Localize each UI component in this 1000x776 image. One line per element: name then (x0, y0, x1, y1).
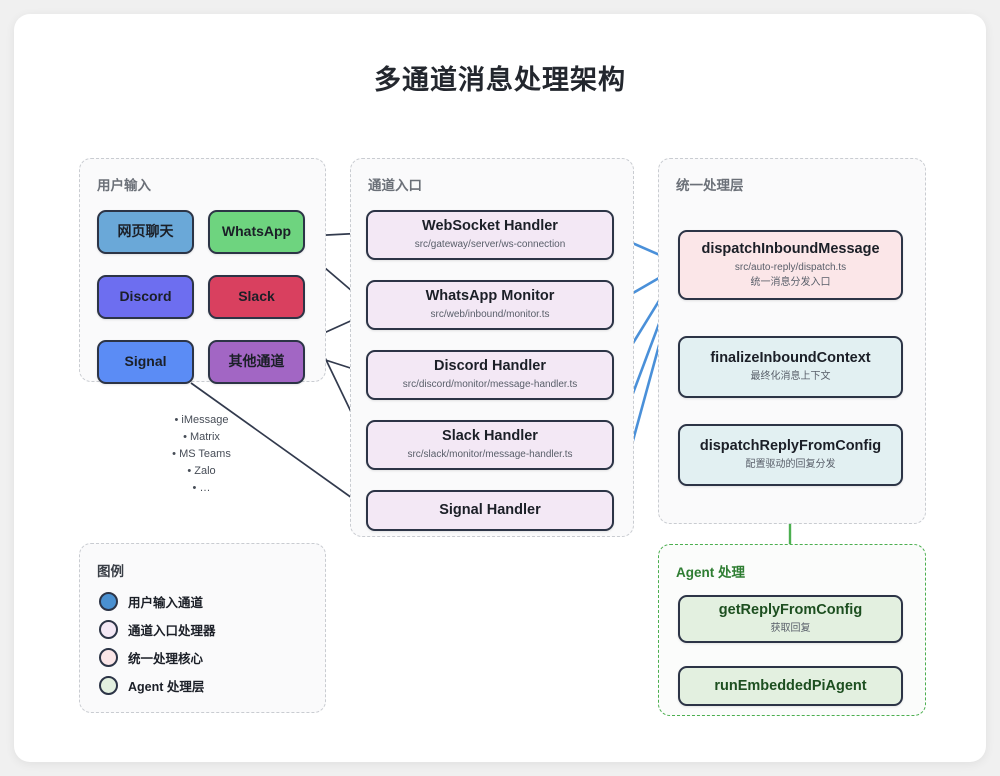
handler-websocket-title: WebSocket Handler (422, 217, 558, 235)
core-finalize-inbound-context[interactable]: finalizeInboundContext 最终化消息上下文 (678, 336, 903, 398)
handler-whatsapp-monitor-path: src/web/inbound/monitor.ts (431, 308, 550, 323)
diagram-card: 多通道消息处理架构 (14, 14, 986, 762)
channel-whatsapp[interactable]: WhatsApp (208, 210, 305, 254)
panel-agent-label: Agent 处理 (676, 561, 745, 581)
legend-item-entry-handler: 通道入口处理器 (99, 620, 216, 639)
core-dispatch-reply-from-config[interactable]: dispatchReplyFromConfig 配置驱动的回复分发 (678, 424, 903, 486)
handler-discord-path: src/discord/monitor/message-handler.ts (403, 378, 578, 393)
channel-slack[interactable]: Slack (208, 275, 305, 319)
agent-get-reply-title: getReplyFromConfig (719, 601, 862, 619)
legend-swatch-circle-icon (99, 592, 118, 611)
core-dispatch-reply-desc: 配置驱动的回复分发 (746, 458, 836, 473)
legend-item-user-channel: 用户输入通道 (99, 592, 203, 611)
channel-slack-label: Slack (238, 288, 275, 306)
handler-slack-path: src/slack/monitor/message-handler.ts (407, 448, 572, 463)
core-finalize-desc: 最终化消息上下文 (751, 370, 831, 385)
legend-item-label: Agent 处理层 (128, 676, 204, 695)
channel-web-chat-label: 网页聊天 (118, 223, 174, 241)
agent-run-embedded-pi-agent[interactable]: runEmbeddedPiAgent (678, 666, 903, 706)
channel-signal-label: Signal (124, 353, 166, 371)
channel-discord-label: Discord (119, 288, 171, 306)
handler-discord[interactable]: Discord Handler src/discord/monitor/mess… (366, 350, 614, 400)
handler-discord-title: Discord Handler (434, 357, 546, 375)
core-dispatch-inbound-message[interactable]: dispatchInboundMessage src/auto-reply/di… (678, 230, 903, 300)
legend-item-unified-core: 统一处理核心 (99, 648, 203, 667)
handler-websocket[interactable]: WebSocket Handler src/gateway/server/ws-… (366, 210, 614, 260)
legend-item-label: 通道入口处理器 (128, 620, 216, 639)
legend-swatch-circle-icon (99, 676, 118, 695)
legend-title: 图例 (97, 560, 124, 580)
legend-item-label: 统一处理核心 (128, 648, 203, 667)
handler-slack-title: Slack Handler (442, 427, 538, 445)
channel-whatsapp-label: WhatsApp (222, 223, 291, 241)
handler-whatsapp-monitor[interactable]: WhatsApp Monitor src/web/inbound/monitor… (366, 280, 614, 330)
legend-item-label: 用户输入通道 (128, 592, 203, 611)
agent-get-reply-from-config[interactable]: getReplyFromConfig 获取回复 (678, 595, 903, 643)
core-dispatch-reply-title: dispatchReplyFromConfig (700, 437, 881, 455)
core-dispatch-title: dispatchInboundMessage (701, 240, 879, 258)
other-channel-item: • MS Teams (139, 446, 264, 463)
legend-item-agent-layer: Agent 处理层 (99, 676, 204, 695)
legend-swatch-circle-icon (99, 648, 118, 667)
handler-whatsapp-monitor-title: WhatsApp Monitor (426, 287, 555, 305)
channel-other[interactable]: 其他通道 (208, 340, 305, 384)
core-dispatch-desc: 统一消息分发入口 (751, 276, 831, 291)
handler-signal-title: Signal Handler (439, 501, 541, 519)
other-channel-item: • … (139, 480, 264, 497)
panel-unified-label: 统一处理层 (676, 174, 744, 194)
diagram-root: 多通道消息处理架构 (0, 0, 1000, 776)
handler-slack[interactable]: Slack Handler src/slack/monitor/message-… (366, 420, 614, 470)
other-channel-item: • iMessage (139, 412, 264, 429)
channel-web-chat[interactable]: 网页聊天 (97, 210, 194, 254)
other-channel-item: • Matrix (139, 429, 264, 446)
other-channel-item: • Zalo (139, 463, 264, 480)
channel-signal[interactable]: Signal (97, 340, 194, 384)
legend-swatch-circle-icon (99, 620, 118, 639)
agent-get-reply-desc: 获取回复 (771, 622, 811, 637)
handler-websocket-path: src/gateway/server/ws-connection (415, 238, 566, 253)
channel-discord[interactable]: Discord (97, 275, 194, 319)
core-finalize-title: finalizeInboundContext (710, 349, 870, 367)
panel-channel-entry-label: 通道入口 (368, 174, 422, 194)
page-title: 多通道消息处理架构 (14, 58, 986, 97)
channel-other-label: 其他通道 (229, 353, 285, 371)
handler-signal[interactable]: Signal Handler (366, 490, 614, 531)
panel-user-input-label: 用户输入 (97, 174, 151, 194)
agent-run-embedded-title: runEmbeddedPiAgent (714, 677, 866, 695)
core-dispatch-path: src/auto-reply/dispatch.ts (735, 261, 846, 276)
other-channels-list: • iMessage • Matrix • MS Teams • Zalo • … (139, 412, 264, 497)
